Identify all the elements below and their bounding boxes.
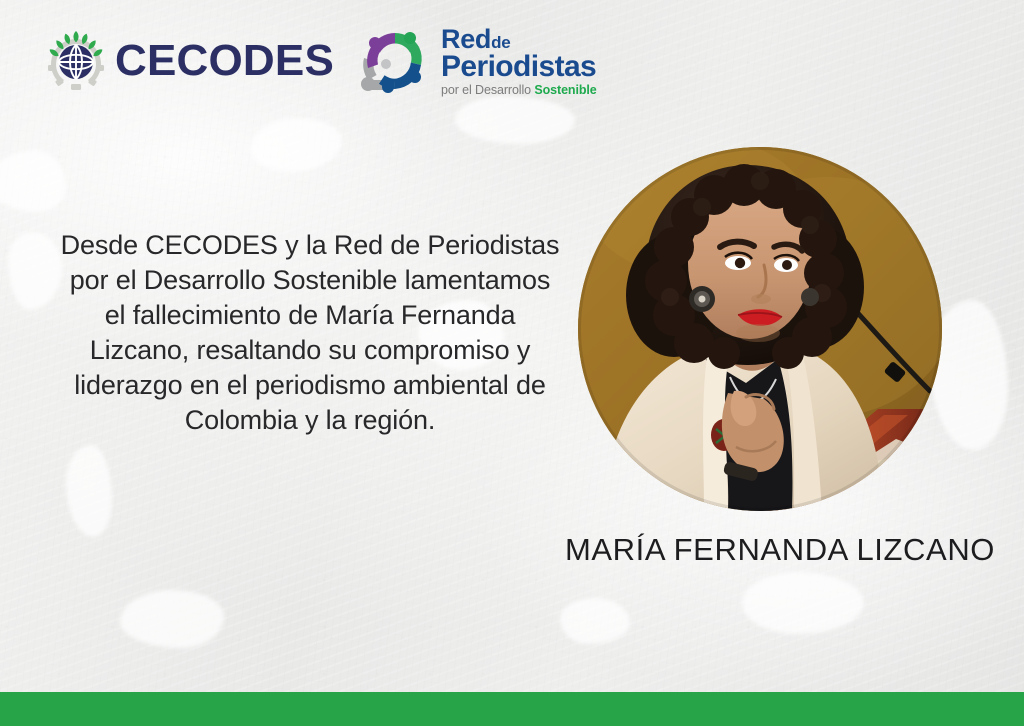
red-periodistas-network-circle-icon (358, 24, 432, 98)
red-periodistas-wordmark: Redde Periodistas por el Desarrollo Sost… (441, 26, 597, 98)
logo-row: CECODES (44, 24, 597, 98)
red-line-1: Redde (441, 26, 597, 52)
red-word-de: de (491, 33, 510, 52)
red-word-periodistas: Periodistas (441, 52, 597, 82)
green-footer-band (0, 692, 1024, 726)
cecodes-globe-leaves-gear-icon (44, 29, 108, 93)
message-text: Desde CECODES y la Red de Periodistas po… (60, 228, 560, 438)
person-name-caption: MARÍA FERNANDA LIZCANO (560, 532, 1000, 568)
cecodes-wordmark: CECODES (115, 39, 334, 83)
tagline-highlight: Sostenible (534, 83, 596, 97)
portrait-photo-circle (578, 147, 942, 511)
tagline-prefix: por el Desarrollo (441, 83, 534, 97)
cecodes-logo: CECODES (44, 29, 334, 93)
social-card: CECODES (0, 0, 1024, 726)
red-periodistas-logo: Redde Periodistas por el Desarrollo Sost… (358, 24, 597, 98)
red-tagline: por el Desarrollo Sostenible (441, 83, 597, 98)
